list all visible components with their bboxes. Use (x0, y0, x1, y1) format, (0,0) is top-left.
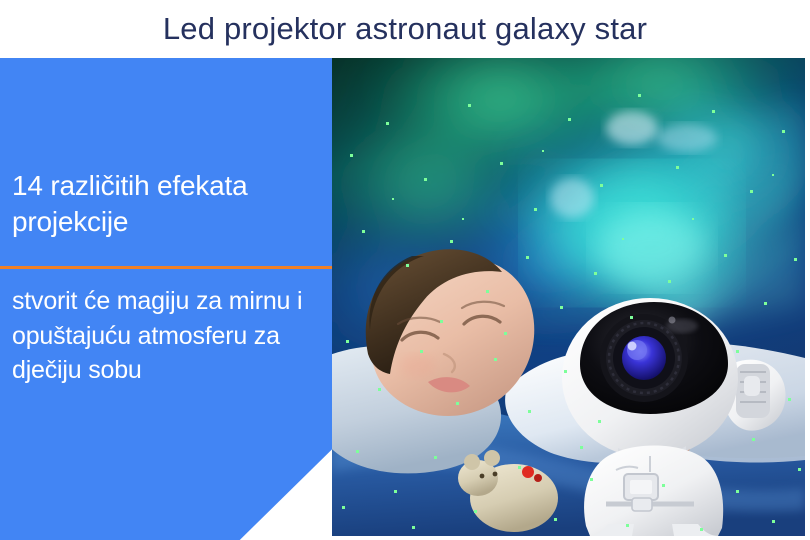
feature-panel-content: 14 različitih efekata projekcije stvorit… (0, 58, 333, 540)
feature-subcopy: stvorit će magiju za mirnu i opuštajuću … (12, 284, 324, 388)
photo-scene (332, 58, 805, 536)
page-title: Led projektor astronaut galaxy star (163, 11, 647, 47)
feature-headline: 14 različitih efekata projekcije (12, 168, 322, 240)
panel-divider (0, 266, 333, 269)
product-photo (332, 58, 805, 536)
feature-panel: 14 različitih efekata projekcije stvorit… (0, 58, 333, 540)
product-banner: Led projektor astronaut galaxy star 14 r… (0, 0, 810, 540)
title-bar: Led projektor astronaut galaxy star (0, 0, 810, 58)
